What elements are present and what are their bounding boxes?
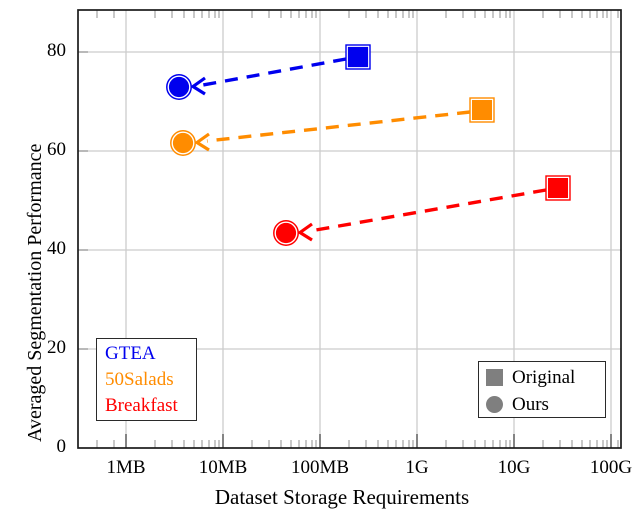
legend-label-original: Original [512, 364, 575, 391]
salads-ours-marker [172, 132, 194, 154]
legend-item-breakfast: Breakfast [105, 393, 196, 419]
y-tick-label-80: 80 [6, 40, 66, 62]
breakfast-original-marker [547, 177, 569, 199]
legend-label-ours: Ours [512, 391, 549, 418]
scatter-chart [0, 0, 636, 518]
legend-item-50salads: 50Salads [105, 367, 196, 393]
x-axis-title: Dataset Storage Requirements [24, 485, 636, 510]
legend-datasets: GTEA 50Salads Breakfast [96, 338, 197, 421]
legend-item-gtea: GTEA [105, 341, 196, 367]
legend-item-original: Original [486, 364, 605, 391]
x-tick-label-10mb: 10MB [178, 457, 268, 479]
x-tick-label-100mb: 100MB [275, 457, 365, 479]
circle-marker-icon [486, 396, 503, 413]
x-tick-label-1g: 1G [372, 457, 462, 479]
legend-marker-types: Original Ours [478, 361, 606, 418]
legend-item-ours: Ours [486, 391, 605, 418]
gtea-original-marker [347, 46, 369, 68]
x-tick-label-10g: 10G [469, 457, 559, 479]
y-axis-title: Averaged Segmentation Performance [24, 144, 47, 442]
legend-label-50salads: 50Salads [105, 369, 174, 390]
square-marker-icon [486, 369, 503, 386]
gtea-ours-marker [168, 76, 190, 98]
x-tick-label-100g: 100G [566, 457, 636, 479]
salads-original-marker [471, 99, 493, 121]
breakfast-ours-marker [275, 222, 297, 244]
legend-label-breakfast: Breakfast [105, 395, 178, 416]
x-tick-label-1mb: 1MB [81, 457, 171, 479]
legend-label-gtea: GTEA [105, 343, 156, 364]
